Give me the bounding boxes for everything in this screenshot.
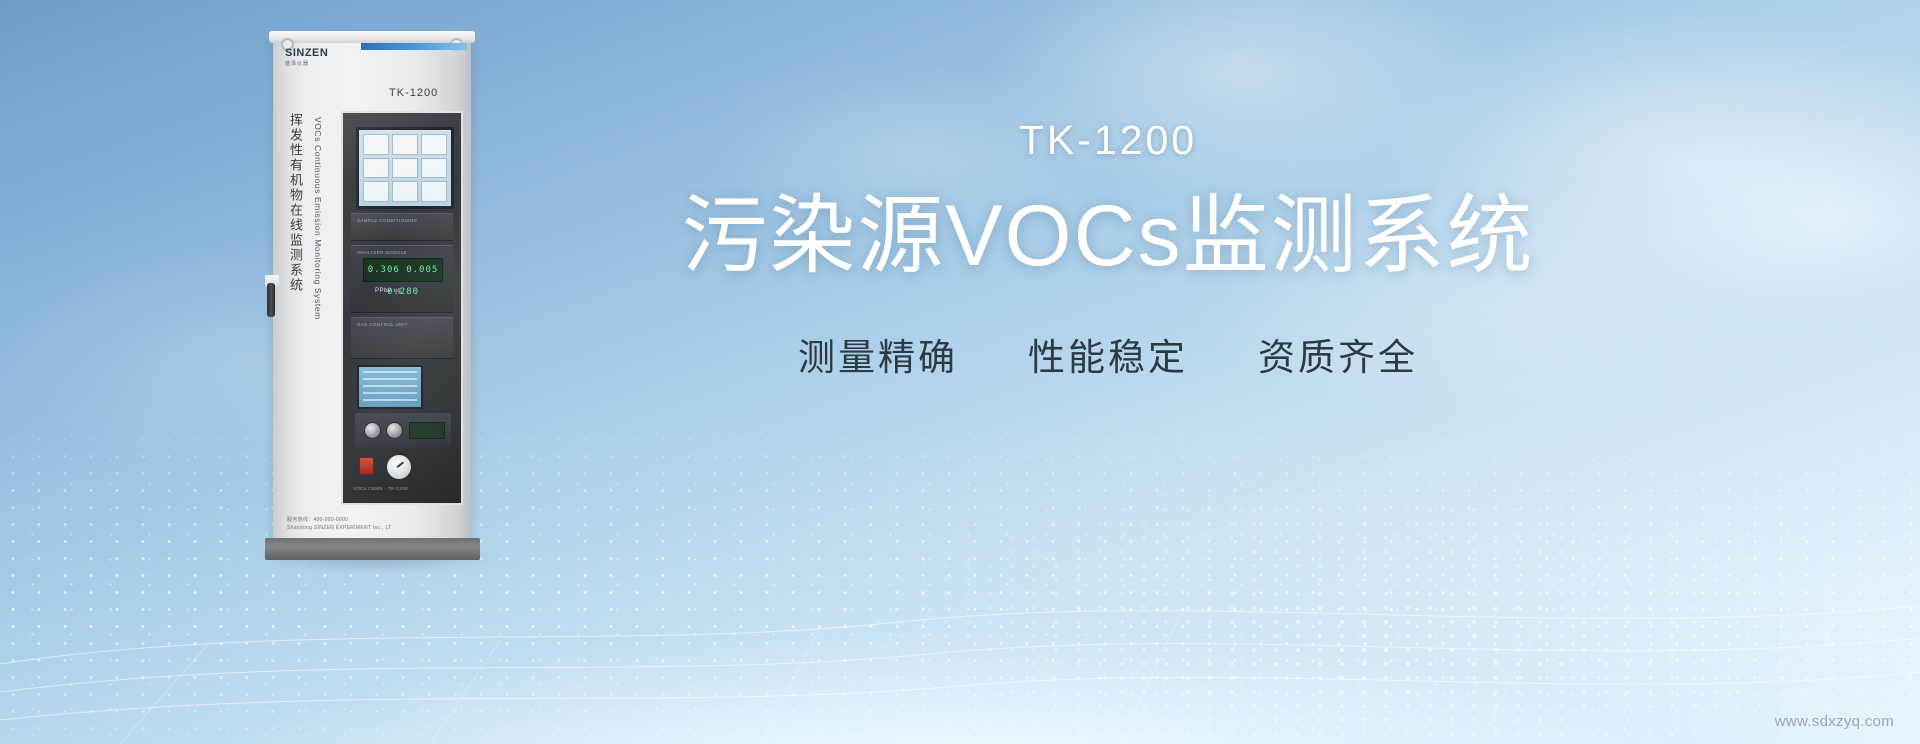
cabinet-vertical-chinese-label: 挥发性有机物在线监测系统 — [287, 113, 307, 293]
cabinet-top-cap — [269, 31, 475, 43]
product-cabinet-image: SINZEN 盛泽仪器 TK-1200 挥发性有机物在线监测系统 VOCs Co… — [265, 25, 480, 560]
cabinet-glass-door: SAMPLE CONDITIONING ANALYZER MODULE 0.30… — [341, 111, 463, 505]
feature-item-2: 性能稳定 — [1028, 327, 1188, 381]
cabinet-footer-text: 服务热线：400-000-0000 Shandong SINZEN EXPERI… — [287, 516, 392, 532]
banner-headline: 污染源VOCs监测系统 — [548, 191, 1668, 281]
cabinet-footer-line-1: 服务热线：400-000-0000 — [287, 516, 392, 524]
cabinet-footer-line-2: Shandong SINZEN EXPERIMENT Inc., LT — [287, 524, 392, 532]
site-watermark: www.sdxzyq.com — [1775, 713, 1894, 730]
banner-model-label: TK-1200 — [548, 120, 1668, 161]
brand-accent-stripe — [361, 43, 467, 50]
door-handle — [267, 283, 275, 317]
banner-copy: TK-1200 污染源VOCs监测系统 测量精确 性能稳定 资质齐全 — [548, 120, 1668, 381]
cabinet-model-label: TK-1200 — [389, 87, 438, 99]
brand-logo: SINZEN 盛泽仪器 — [285, 47, 347, 67]
cabinet-base-plinth — [265, 538, 480, 560]
cabinet-vertical-english-label: VOCs Continuous Emission Monitoring Syst… — [313, 117, 323, 320]
glass-reflection — [343, 113, 461, 503]
product-banner: SINZEN 盛泽仪器 TK-1200 挥发性有机物在线监测系统 VOCs Co… — [0, 0, 1920, 744]
feature-item-3: 资质齐全 — [1258, 327, 1418, 381]
brand-logo-subtext: 盛泽仪器 — [285, 60, 347, 67]
banner-feature-list: 测量精确 性能稳定 资质齐全 — [548, 327, 1668, 381]
brand-logo-text: SINZEN — [285, 47, 347, 59]
feature-item-1: 测量精确 — [798, 327, 958, 381]
